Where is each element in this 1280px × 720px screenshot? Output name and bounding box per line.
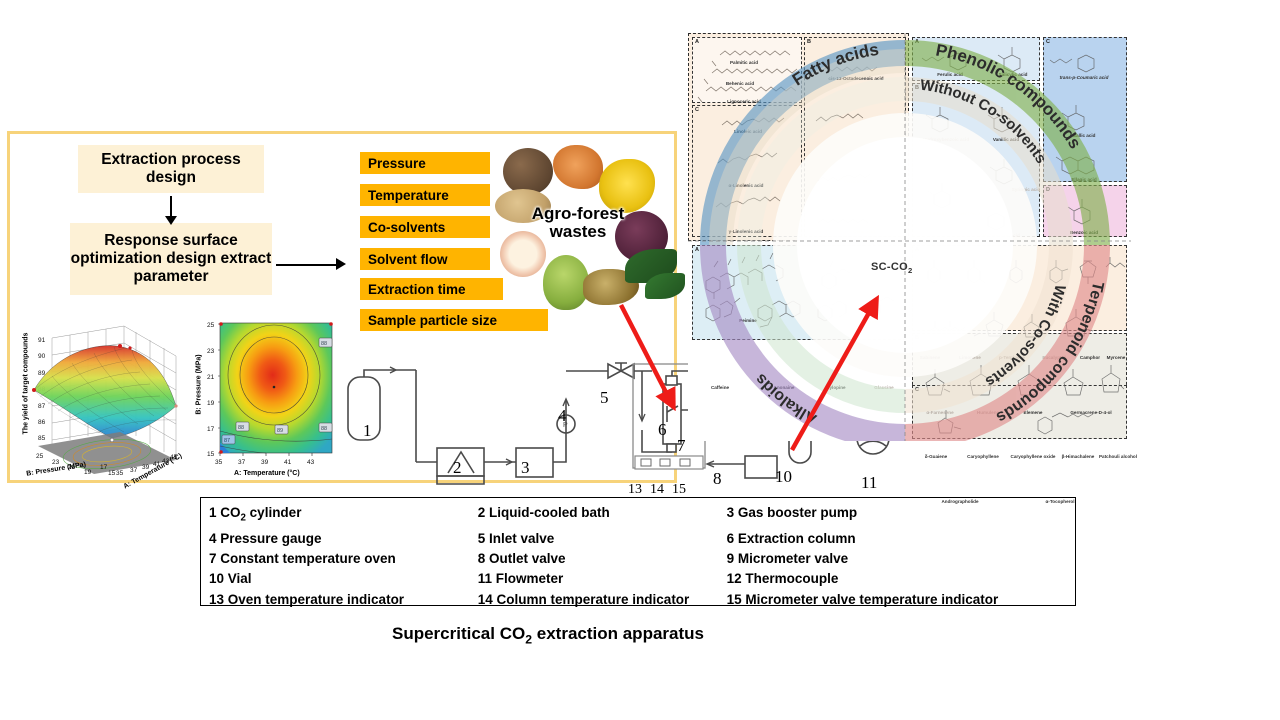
compound-name: Andrographolide (941, 499, 978, 504)
svg-text:17: 17 (207, 426, 215, 433)
svg-text:35: 35 (116, 470, 124, 477)
apparatus-number-14: 14 (650, 482, 664, 498)
legend-cell: 5 Inlet valve (478, 529, 727, 549)
legend-cell: 9 Micrometer valve (727, 549, 1075, 569)
legend-cell: 1 CO2 cylinder (209, 503, 478, 529)
svg-text:91: 91 (38, 337, 46, 344)
arrow-right-shaft (276, 264, 338, 266)
compound-rings-svg: Fatty acids Phenolic compounds Terpenoid… (688, 33, 1131, 441)
apparatus-number-11: 11 (861, 473, 877, 493)
svg-text:88: 88 (321, 341, 327, 347)
contour-xaxis-label: A: Temperature (°C) (234, 470, 300, 477)
arrow-down-shaft (170, 196, 172, 218)
arrow-right-icon (336, 258, 346, 270)
param-tag-solvent-flow: Solvent flow (360, 248, 490, 270)
svg-text:37: 37 (130, 467, 138, 474)
svg-text:88: 88 (238, 425, 244, 431)
legend-row-3: 7 Constant temperature oven 8 Outlet val… (209, 549, 1075, 569)
response-surface-3d-plot: 9190 8988 8786 85 (8, 318, 186, 478)
compound-name: Caryophyllene oxide (1011, 454, 1056, 459)
svg-text:19: 19 (207, 400, 215, 407)
svg-text:21: 21 (207, 374, 215, 381)
svg-text:19: 19 (84, 469, 92, 476)
apparatus-number-6: 6 (658, 420, 667, 440)
legend-cell: 2 Liquid-cooled bath (478, 503, 727, 529)
svg-text:89: 89 (277, 428, 283, 434)
param-tag-extraction-time: Extraction time (360, 278, 503, 300)
svg-text:87: 87 (38, 403, 46, 410)
waste-onion-skin-image (553, 145, 603, 189)
legend-cell: 8 Outlet valve (478, 549, 727, 569)
surface-plot-svg: 9190 8988 8786 85 (8, 318, 186, 478)
figure-caption: Supercritical CO2 extraction apparatus (0, 624, 1096, 646)
svg-text:87: 87 (224, 438, 230, 444)
surface-zaxis-label: The yield of target compounds (23, 320, 30, 448)
apparatus-number-7: 7 (677, 436, 686, 456)
contour-plot-svg: 88 89 87 88 88 2523 2119 1715 3537 3941 … (186, 315, 336, 481)
legend-cell: 6 Extraction column (727, 529, 1075, 549)
svg-text:15: 15 (108, 470, 116, 477)
legend-row-4: 10 Vial 11 Flowmeter 12 Thermocouple (209, 569, 1075, 589)
param-tag-pressure: Pressure (360, 152, 490, 174)
extraction-process-design-box: Extraction process design (78, 145, 264, 193)
apparatus-number-5: 5 (600, 388, 609, 408)
apparatus-number-8: 8 (713, 469, 722, 489)
apparatus-number-13: 13 (628, 482, 642, 498)
compound-name: β-Himachalene (1062, 454, 1095, 459)
svg-text:85: 85 (38, 435, 46, 442)
legend-cell: 12 Thermocouple (727, 569, 1075, 589)
waste-bark-image (503, 148, 553, 195)
svg-text:88: 88 (321, 426, 327, 432)
apparatus-number-1: 1 (363, 421, 372, 441)
contour-yaxis-label: B: Pressure (MPa) (196, 349, 203, 421)
compound-name: Patchouli alcohol (1099, 454, 1137, 459)
compound-name: Caryophyllene (967, 454, 999, 459)
svg-text:43: 43 (307, 459, 315, 466)
apparatus-number-4: 4 (558, 406, 567, 426)
legend-cell: 13 Oven temperature indicator (209, 590, 478, 610)
legend-row-1: 1 CO2 cylinder 2 Liquid-cooled bath 3 Ga… (209, 503, 1075, 529)
apparatus-number-10: 10 (775, 467, 792, 487)
apparatus-number-3: 3 (521, 458, 530, 478)
svg-text:35: 35 (215, 459, 223, 466)
compound-classes-panel: A B C Palmitic acid Behenic acid Lignoce… (688, 33, 1131, 441)
response-surface-contour-plot: 88 89 87 88 88 2523 2119 1715 3537 3941 … (186, 315, 336, 481)
svg-text:23: 23 (207, 348, 215, 355)
svg-text:37: 37 (238, 459, 246, 466)
compound-name: δ-Guaiene (925, 454, 947, 459)
legend-row-2: 4 Pressure gauge 5 Inlet valve 6 Extract… (209, 529, 1075, 549)
param-tag-co-solvents: Co-solvents (360, 216, 490, 238)
svg-text:25: 25 (207, 322, 215, 329)
legend-cell: 11 Flowmeter (478, 569, 727, 589)
svg-text:41: 41 (284, 459, 292, 466)
apparatus-number-2: 2 (453, 458, 462, 478)
legend-row-5: 13 Oven temperature indicator 14 Column … (209, 590, 1075, 610)
response-surface-design-box: Response surface optimization design ext… (70, 223, 272, 295)
svg-text:90: 90 (38, 353, 46, 360)
legend-cell: 7 Constant temperature oven (209, 549, 478, 569)
apparatus-number-15: 15 (672, 482, 686, 498)
legend-cell: 15 Micrometer valve temperature indicato… (727, 590, 1075, 610)
legend-cell: 14 Column temperature indicator (478, 590, 727, 610)
svg-text:86: 86 (38, 419, 46, 426)
apparatus-legend-box: 1 CO2 cylinder 2 Liquid-cooled bath 3 Ga… (200, 497, 1076, 606)
param-tag-temperature: Temperature (360, 184, 490, 206)
arrow-down-icon (165, 216, 177, 225)
svg-text:15: 15 (207, 451, 215, 458)
svg-text:39: 39 (261, 459, 269, 466)
legend-cell: 3 Gas booster pump (727, 503, 1075, 529)
legend-cell: 10 Vial (209, 569, 478, 589)
compound-name: α-Tocopherol (1045, 499, 1074, 504)
waste-leaf-2-image (645, 273, 685, 299)
legend-cell: 4 Pressure gauge (209, 529, 478, 549)
svg-text:25: 25 (36, 453, 44, 460)
agro-forest-wastes-label: Agro-forest wastes (508, 205, 648, 241)
svg-text:17: 17 (100, 464, 108, 471)
sc-co2-center-label: SC-CO2 (871, 261, 913, 275)
